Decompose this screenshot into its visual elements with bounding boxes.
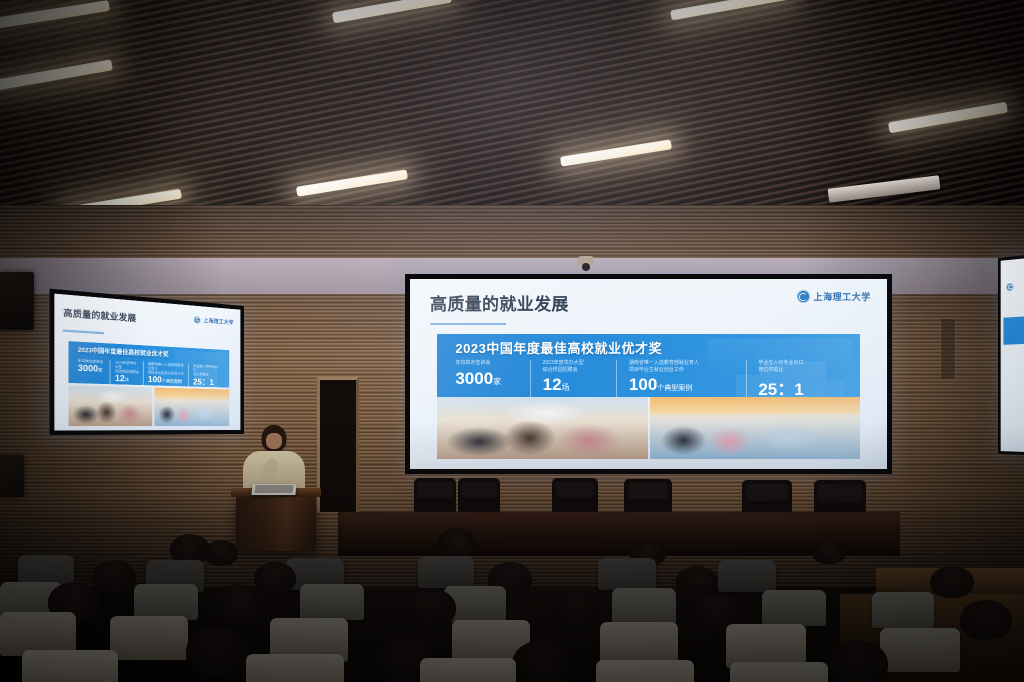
slide-main: 高质量的就业发展 上海理工大学 2023中国年度最佳高校就业优才奖 年均举办宣讲…: [410, 279, 887, 469]
stat-label: 湖南省唯一入选教育部就业育人 项目毕业生就业创业工作: [629, 360, 738, 373]
banner-stats: 年均举办宣讲会 3000家 2023年度举办大型 综合校园招聘会 12场 湖南省…: [78, 359, 223, 388]
audience-head: [254, 562, 296, 594]
projection-screen-left[interactable]: 高质量的就业发展 上海理工大学 2023中国年度最佳高校就业优才奖 年均举办宣讲…: [50, 289, 244, 435]
audience-seat[interactable]: [762, 590, 826, 626]
audience-seat[interactable]: [418, 556, 474, 588]
stat-item: 2023年度举办大型 综合校园招聘会 12场: [530, 360, 616, 396]
stat-value: 25：1: [758, 375, 839, 397]
audience-seat[interactable]: [880, 628, 960, 672]
slide-right: [1001, 255, 1024, 453]
screen-surface-left: 高质量的就业发展 上海理工大学 2023中国年度最佳高校就业优才奖 年均举办宣讲…: [54, 294, 240, 431]
university-seal-icon: [1006, 283, 1013, 292]
audience-seat[interactable]: [596, 660, 694, 682]
auditorium-scene: 高质量的就业发展 上海理工大学 2023中国年度最佳高校就业优才奖 年均举办宣讲…: [0, 0, 1024, 682]
audience-seat[interactable]: [730, 662, 828, 682]
audience-head: [550, 590, 600, 628]
stat-item: 年均举办宣讲会 3000家: [455, 360, 530, 396]
audience-head: [930, 566, 974, 598]
stat-label: 2023年度举办大型 综合校园招聘会: [543, 360, 609, 373]
audience-seat[interactable]: [134, 584, 198, 620]
audience-seat[interactable]: [718, 560, 776, 592]
stat-value: 3000家: [78, 363, 106, 374]
stat-value: 100个典型案例: [629, 375, 738, 395]
stat-value: 12场: [543, 375, 609, 395]
audience-head: [826, 640, 888, 682]
stat-item: 2023年度举办大型 综合校园招聘会 12场: [109, 360, 142, 386]
slide-banner: [1003, 314, 1024, 344]
job-fair-photo-right: [650, 397, 861, 460]
stat-value: 3000家: [455, 369, 522, 389]
slide-photo-strip: [437, 397, 861, 460]
projection-screen-right[interactable]: [998, 251, 1024, 456]
slide-logo: 上海理工大学: [194, 316, 234, 326]
slide-title: 高质量的就业发展: [63, 307, 136, 325]
stat-item: 毕业生人均专业对口 岗位供需比 25：1: [746, 360, 848, 396]
audience-head: [960, 600, 1012, 640]
stat-label: 2023年度举办大型 综合校园招聘会: [115, 361, 139, 375]
stat-item: 湖南省唯一入选教育部就业育人 项目毕业生就业创业工作 100个典型案例: [616, 360, 745, 396]
audience-head: [214, 584, 264, 624]
audience-head: [204, 540, 238, 566]
stat-label: 年均举办宣讲会: [455, 360, 522, 366]
job-fair-photo-left: [437, 397, 648, 460]
audience-seat[interactable]: [420, 658, 516, 682]
slide-logo-text: 上海理工大学: [204, 316, 234, 325]
wall-speaker-left: [0, 272, 34, 330]
stat-value: 100个典型案例: [148, 375, 185, 386]
stat-value: 25：1: [193, 377, 220, 388]
slide-logo: 上海理工大学: [797, 290, 871, 303]
audience-seat[interactable]: [612, 588, 676, 624]
job-fair-photo-left: [69, 386, 152, 427]
banner-heading: 2023中国年度最佳高校就业优才奖: [455, 338, 662, 357]
audience-seat[interactable]: [110, 616, 188, 660]
stat-label: 毕业生人均专业对口 岗位供需比: [193, 364, 220, 377]
university-seal-icon: [797, 290, 810, 303]
audience-seat[interactable]: [300, 584, 364, 620]
audience-head: [438, 528, 476, 558]
job-fair-photo-right: [154, 388, 228, 426]
audience-seat[interactable]: [872, 592, 934, 628]
slide-photo-strip: [69, 386, 229, 427]
audience-seat[interactable]: [22, 650, 118, 682]
audience-head: [512, 640, 572, 682]
stat-value: 12场: [115, 374, 139, 385]
audience-head: [92, 560, 136, 594]
banner-stats: 年均举办宣讲会 3000家 2023年度举办大型 综合校园招聘会 12场 湖南省…: [455, 360, 847, 396]
slide-title: 高质量的就业发展: [430, 290, 569, 315]
slide-logo: [1006, 283, 1013, 292]
slide-left: 高质量的就业发展 上海理工大学 2023中国年度最佳高校就业优才奖 年均举办宣讲…: [54, 294, 240, 431]
screen-surface-main: 高质量的就业发展 上海理工大学 2023中国年度最佳高校就业优才奖 年均举办宣讲…: [410, 279, 887, 469]
screen-surface-right: [1001, 255, 1024, 453]
stat-item: 年均举办宣讲会 3000家: [78, 359, 109, 386]
slide-logo-text: 上海理工大学: [814, 290, 871, 303]
stat-item: 毕业生人均专业对口 岗位供需比 25：1: [188, 364, 223, 388]
banner-heading: 2023中国年度最佳高校就业优才奖: [78, 345, 169, 358]
audience-head: [812, 540, 846, 564]
stat-item: 湖南省唯一入选教育部就业育人 项目毕业生就业创业工作 100个典型案例: [142, 362, 188, 388]
stat-label: 湖南省唯一入选教育部就业育人 项目毕业生就业创业工作: [148, 362, 185, 376]
presenter-face: [266, 433, 282, 449]
slide-banner: 2023中国年度最佳高校就业优才奖 年均举办宣讲会 3000家 2023年度举办…: [69, 341, 229, 388]
audience-head: [404, 588, 456, 628]
university-seal-icon: [194, 316, 201, 324]
title-underline: [430, 323, 506, 325]
audience-seat[interactable]: [598, 558, 656, 590]
audience-head: [186, 626, 248, 678]
slide-banner: 2023中国年度最佳高校就业优才奖 年均举办宣讲会 3000家 2023年度举办…: [437, 334, 861, 397]
stat-label: 毕业生人均专业对口 岗位供需比: [758, 360, 839, 373]
wall-access-panel: [940, 318, 956, 380]
title-underline: [63, 330, 104, 334]
led-display-main[interactable]: 高质量的就业发展 上海理工大学 2023中国年度最佳高校就业优才奖 年均举办宣讲…: [405, 274, 892, 474]
dome-camera-icon: [578, 256, 594, 265]
audience-seat[interactable]: [246, 654, 344, 682]
